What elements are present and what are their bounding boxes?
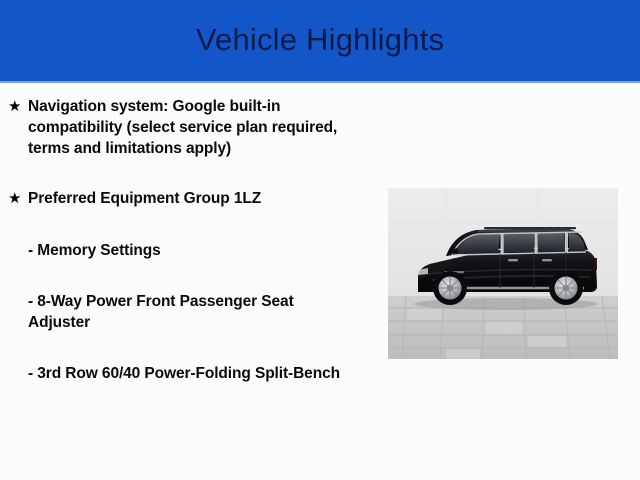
highlight-subitem: - 8-Way Power Front Passenger Seat Adjus… (0, 291, 350, 333)
vehicle-photo (388, 188, 618, 359)
star-bullet-icon: ★ (8, 96, 28, 117)
spacer (0, 159, 378, 188)
vehicle-highlights-list: ★ Navigation system: Google built-in com… (0, 96, 378, 384)
highlight-text: Preferred Equipment Group 1LZ (28, 188, 378, 209)
rear-wheel (549, 271, 583, 305)
list-item: ★ Navigation system: Google built-in com… (0, 96, 378, 159)
highlight-subitem: - 3rd Row 60/40 Power-Folding Split-Benc… (0, 363, 350, 384)
front-wheel (433, 271, 467, 305)
list-item: ★ Preferred Equipment Group 1LZ (0, 188, 378, 209)
vehicle-side-profile-image (388, 188, 618, 359)
page-title: Vehicle Highlights (0, 0, 640, 81)
spacer (0, 209, 378, 240)
spacer (0, 261, 378, 291)
header-band: Vehicle Highlights (0, 0, 640, 81)
star-bullet-icon: ★ (8, 188, 28, 209)
highlight-subitem: - Memory Settings (0, 240, 350, 261)
highlight-text: Navigation system: Google built-in compa… (28, 96, 378, 159)
spacer (0, 333, 378, 363)
